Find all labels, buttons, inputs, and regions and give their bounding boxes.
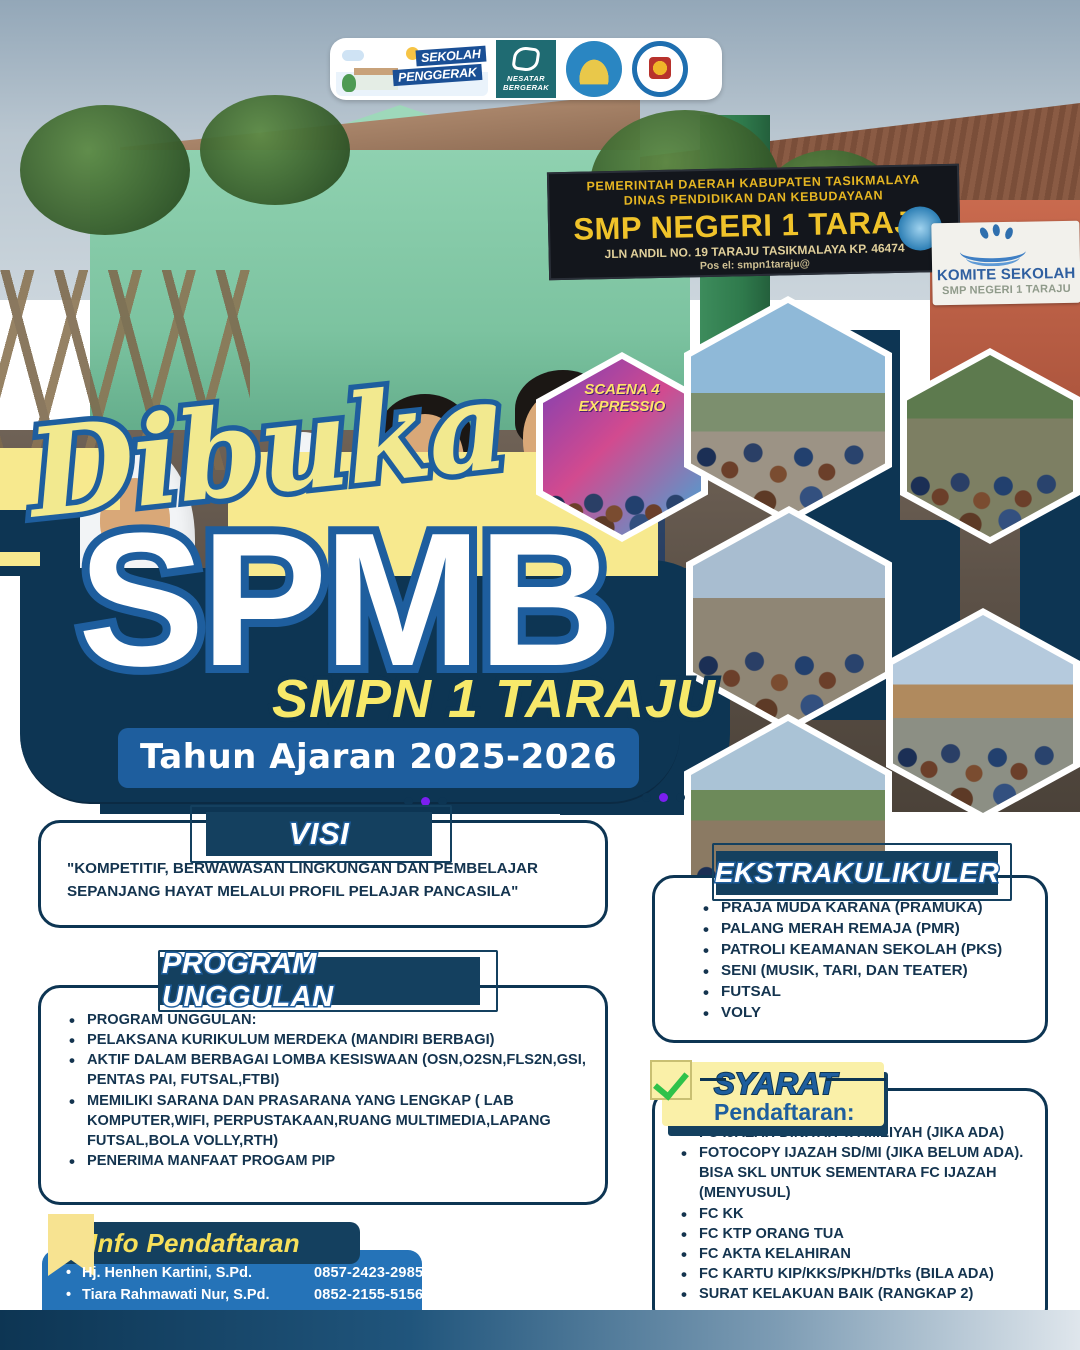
school-sign-banner: PEMERINTAH DAERAH KABUPATEN TASIKMALAYA … <box>547 164 961 281</box>
list-item: FUTSAL <box>699 982 1031 1003</box>
headline-year-badge: Tahun Ajaran 2025-2026 <box>118 728 639 788</box>
syarat-subtitle: Pendaftaran: <box>714 1100 866 1125</box>
sekolah-penggerak-logo: SEKOLAH PENGGERAK <box>336 42 488 96</box>
list-item: PRAJA MUDA KARANA (PRAMUKA) <box>699 898 1031 919</box>
ekstrakulikuler-title: EKSTRAKULIKULER <box>715 857 999 889</box>
contact-name: Tiara Rahmawati Nur, S.Pd. <box>82 1284 314 1306</box>
komite-line1: KOMITE SEKOLAH <box>932 265 1080 285</box>
leaf-icon <box>1004 226 1015 240</box>
ekstra-ribbon: EKSTRAKULIKULER <box>716 851 998 895</box>
syarat-rule-right <box>826 1078 886 1081</box>
nesatar-mark-icon <box>511 45 540 72</box>
contact-phone: 0852-2155-5156 <box>314 1284 423 1306</box>
program-card: PROGRAM UNGGULAN: PELAKSANA KURIKULUM ME… <box>38 985 608 1205</box>
decor-dots-right <box>642 793 685 802</box>
contact-name: Hj. Henhen Kartini, S.Pd. <box>82 1262 314 1284</box>
headline-year: Tahun Ajaran 2025-2026 <box>140 737 617 777</box>
list-item: FC KTP ORANG TUA <box>677 1224 1031 1244</box>
visi-title: VISI <box>289 816 350 852</box>
komite-sekolah-sign: KOMITE SEKOLAH SMP NEGERI 1 TARAJU <box>931 221 1080 306</box>
syarat-title: SYARAT <box>714 1068 866 1100</box>
yellow-accent-strip <box>0 552 40 566</box>
check-icon <box>650 1060 692 1100</box>
tut-wuri-handayani-seal-icon <box>566 41 622 97</box>
tree-icon <box>20 105 190 235</box>
ekstrakulikuler-list: PRAJA MUDA KARANA (PRAMUKA) PALANG MERAH… <box>699 898 1031 1024</box>
nesatar-line1: NESATAR <box>507 74 545 83</box>
list-item: PALANG MERAH REMAJA (PMR) <box>699 919 1031 940</box>
list-item: PENERIMA MANFAAT PROGAM PIP <box>65 1151 587 1171</box>
program-title: PROGRAM UNGGULAN <box>162 948 478 1014</box>
list-item: SURAT KELAKUAN BAIK (RANGKAP 2) <box>677 1284 1031 1304</box>
info-header: Info Pendaftaran <box>60 1222 360 1264</box>
headline-spmb: SPMB <box>78 505 611 695</box>
bottom-gradient-bar <box>0 1310 1080 1350</box>
school-seal-icon <box>632 41 688 97</box>
syarat-list: FC IJAZAH DINIYAH TA'MILIYAH (JIKA ADA) … <box>677 1123 1031 1304</box>
list-item: PATROLI KEAMANAN SEKOLAH (PKS) <box>699 940 1031 961</box>
list-item: FC KK <box>677 1204 1031 1224</box>
poster-root: PEMERINTAH DAERAH KABUPATEN TASIKMALAYA … <box>0 0 1080 1350</box>
list-item: VOLY <box>699 1003 1031 1024</box>
nesatar-line2: BERGERAK <box>503 83 549 92</box>
wave-icon <box>966 248 1020 267</box>
leaf-icon <box>992 224 1000 237</box>
headline-school: SMPN 1 TARAJU <box>272 672 716 726</box>
contact-row: • Tiara Rahmawati Nur, S.Pd. 0852-2155-5… <box>66 1284 423 1306</box>
list-item: SENI (MUSIK, TARI, DAN TEATER) <box>699 961 1031 982</box>
visi-ribbon: VISI <box>206 812 432 856</box>
list-item: FOTOCOPY IJAZAH SD/MI (JIKA BELUM ADA). … <box>677 1143 1031 1203</box>
syarat-header: SYARAT Pendaftaran: <box>662 1062 884 1126</box>
list-item: AKTIF DALAM BERBAGAI LOMBA KESISWAAN (OS… <box>65 1050 587 1090</box>
leaf-icon <box>978 226 990 240</box>
contact-row: • Hj. Henhen Kartini, S.Pd. 0857-2423-29… <box>66 1262 423 1284</box>
visi-line2: SEPANJANG HAYAT MELALUI PROFIL PELAJAR P… <box>67 880 583 903</box>
hex-caption: SCAENA 4 EXPRESSIO <box>543 381 701 415</box>
program-ribbon: PROGRAM UNGGULAN <box>160 957 480 1005</box>
list-item: FC AKTA KELAHIRAN <box>677 1244 1031 1264</box>
list-item: MEMILIKI SARANA DAN PRASARANA YANG LENGK… <box>65 1091 587 1151</box>
logo-bar: SEKOLAH PENGGERAK NESATAR BERGERAK <box>330 38 722 100</box>
list-item: PELAKSANA KURIKULUM MERDEKA (MANDIRI BER… <box>65 1030 587 1050</box>
tree-icon <box>200 95 350 205</box>
list-item: FC KARTU KIP/KKS/PKH/DTks (BILA ADA) <box>677 1264 1031 1284</box>
komite-line2: SMP NEGERI 1 TARAJU <box>932 283 1080 298</box>
nesatar-bergerak-logo: NESATAR BERGERAK <box>496 40 556 98</box>
program-list: PROGRAM UNGGULAN: PELAKSANA KURIKULUM ME… <box>65 1010 587 1171</box>
contact-phone: 0857-2423-2985 <box>314 1262 423 1284</box>
info-title: Info Pendaftaran <box>90 1228 300 1259</box>
syarat-rule-left <box>700 1078 726 1081</box>
